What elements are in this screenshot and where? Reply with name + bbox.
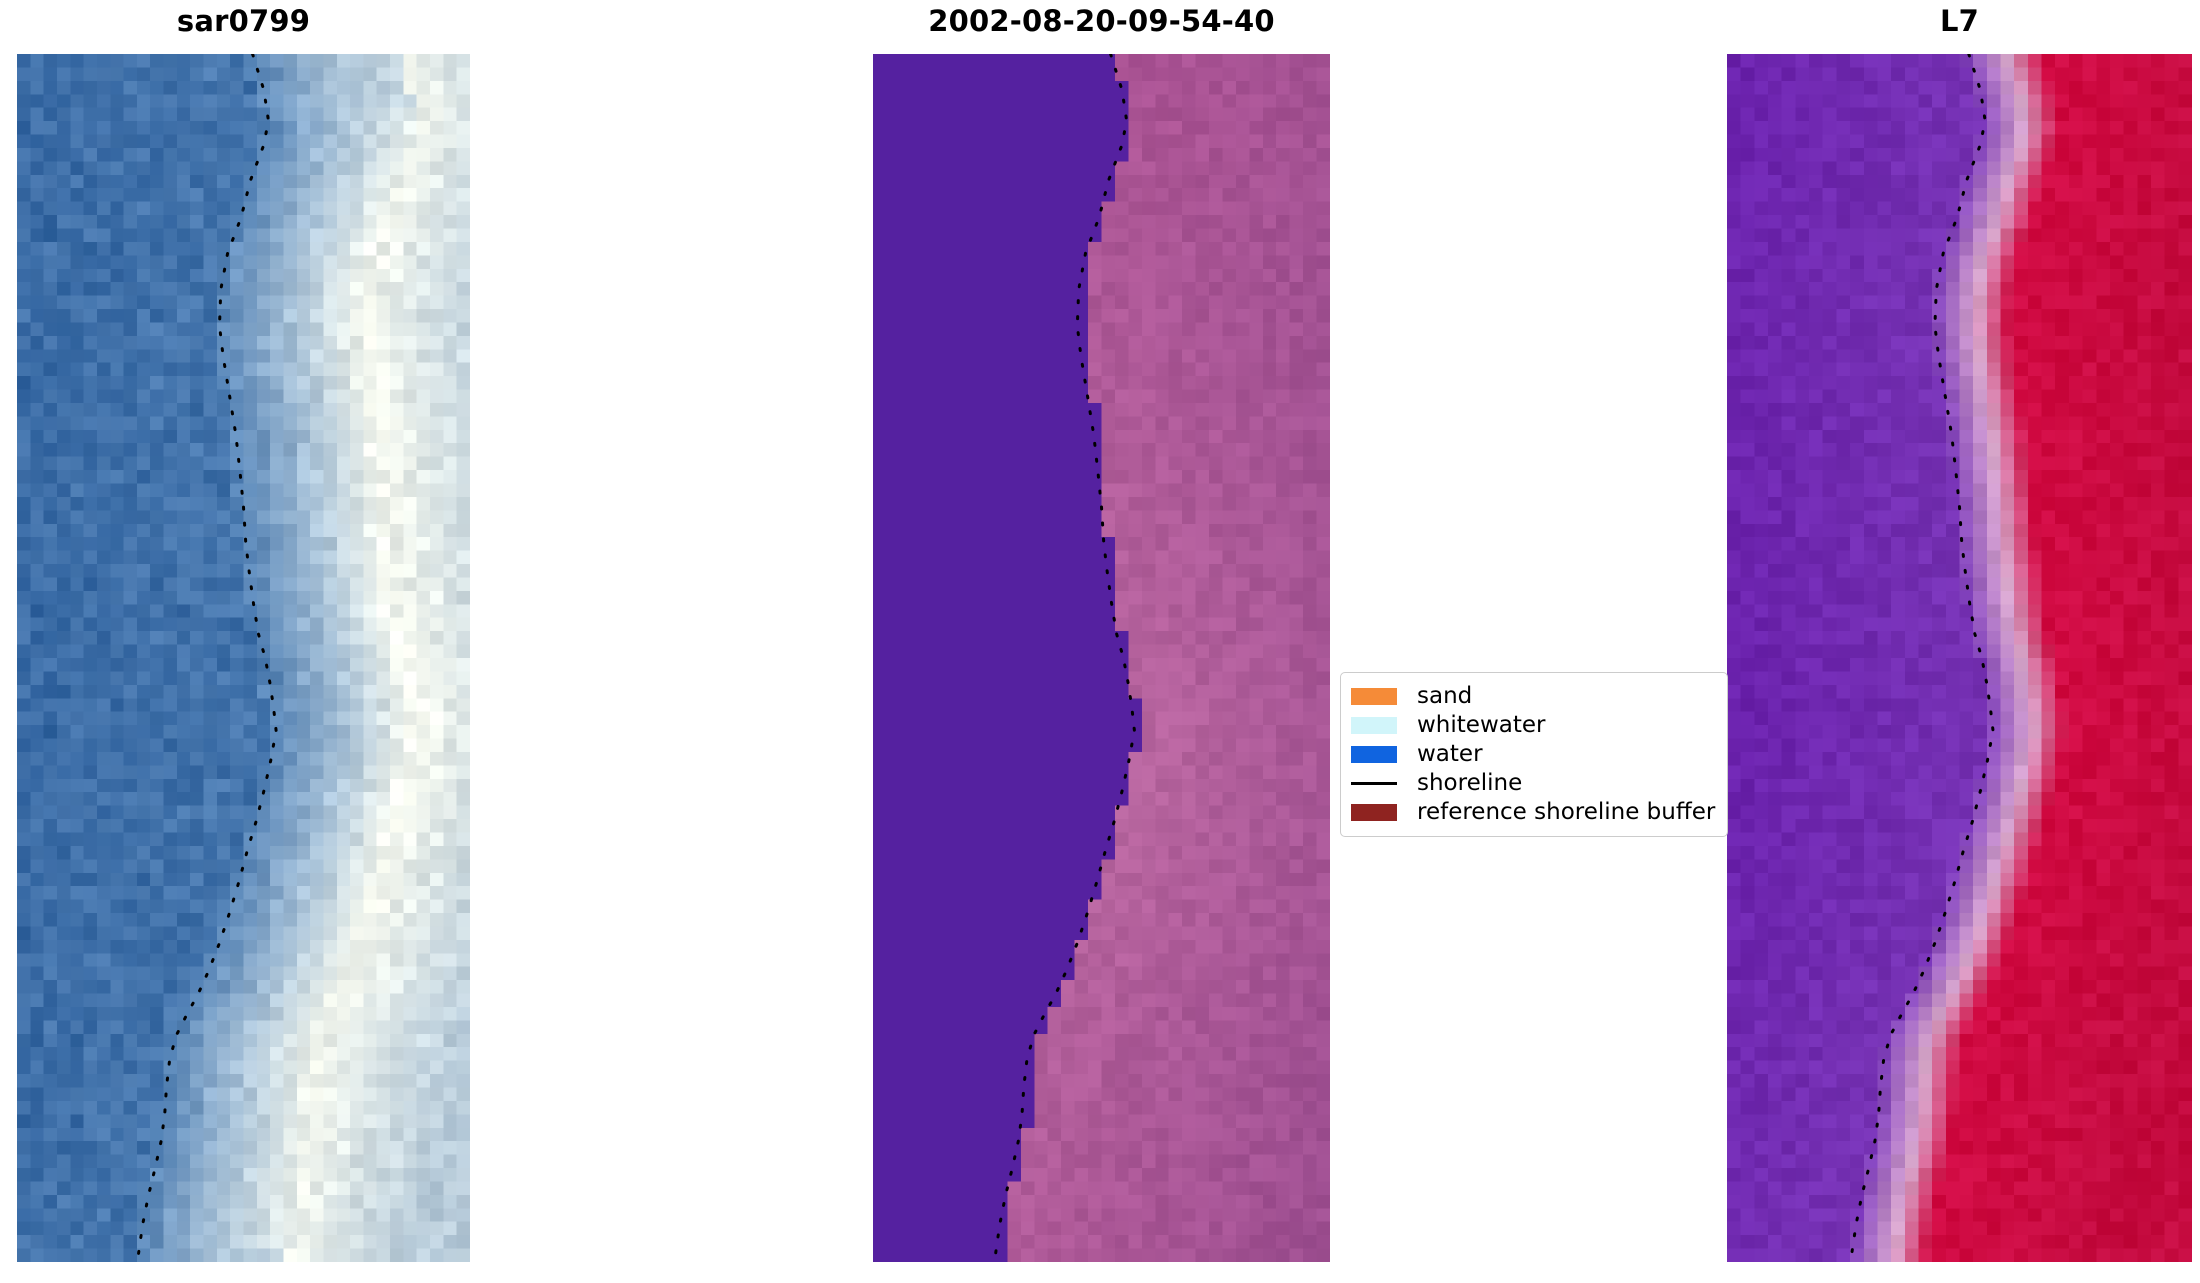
shoreline-overlay-classification bbox=[873, 54, 1330, 1262]
legend-label-water: water bbox=[1417, 743, 1483, 766]
legend-label-reference-shoreline-buffer: reference shoreline buffer bbox=[1417, 801, 1715, 824]
legend: sand whitewater water shoreline referenc… bbox=[1340, 672, 1728, 837]
panel-title-classification: 2002-08-20-09-54-40 bbox=[873, 4, 1330, 38]
panel-title-sar0799: sar0799 bbox=[17, 4, 470, 38]
legend-label-shoreline: shoreline bbox=[1417, 772, 1522, 795]
legend-item-water[interactable]: water bbox=[1351, 740, 1715, 769]
panel-title-l7: L7 bbox=[1727, 4, 2192, 38]
legend-label-whitewater: whitewater bbox=[1417, 714, 1545, 737]
legend-swatch-whitewater-icon bbox=[1351, 717, 1397, 734]
legend-item-sand[interactable]: sand bbox=[1351, 682, 1715, 711]
legend-item-reference-shoreline-buffer[interactable]: reference shoreline buffer bbox=[1351, 798, 1715, 827]
sar-image[interactable] bbox=[17, 54, 470, 1262]
legend-label-sand: sand bbox=[1417, 685, 1472, 708]
shoreline-overlay-sar bbox=[17, 54, 470, 1262]
legend-swatch-water-icon bbox=[1351, 746, 1397, 763]
shoreline-overlay-l7 bbox=[1727, 54, 2192, 1262]
panel-classification: 2002-08-20-09-54-40 bbox=[873, 0, 1330, 1262]
legend-item-whitewater[interactable]: whitewater bbox=[1351, 711, 1715, 740]
legend-line-shoreline-icon bbox=[1351, 775, 1397, 792]
classification-image[interactable] bbox=[873, 54, 1330, 1262]
legend-swatch-reference-buffer-icon bbox=[1351, 804, 1397, 821]
panel-l7: L7 bbox=[1727, 0, 2192, 1262]
legend-item-shoreline[interactable]: shoreline bbox=[1351, 769, 1715, 798]
panel-sar0799: sar0799 bbox=[17, 0, 470, 1262]
legend-swatch-sand-icon bbox=[1351, 688, 1397, 705]
l7-image[interactable] bbox=[1727, 54, 2192, 1262]
